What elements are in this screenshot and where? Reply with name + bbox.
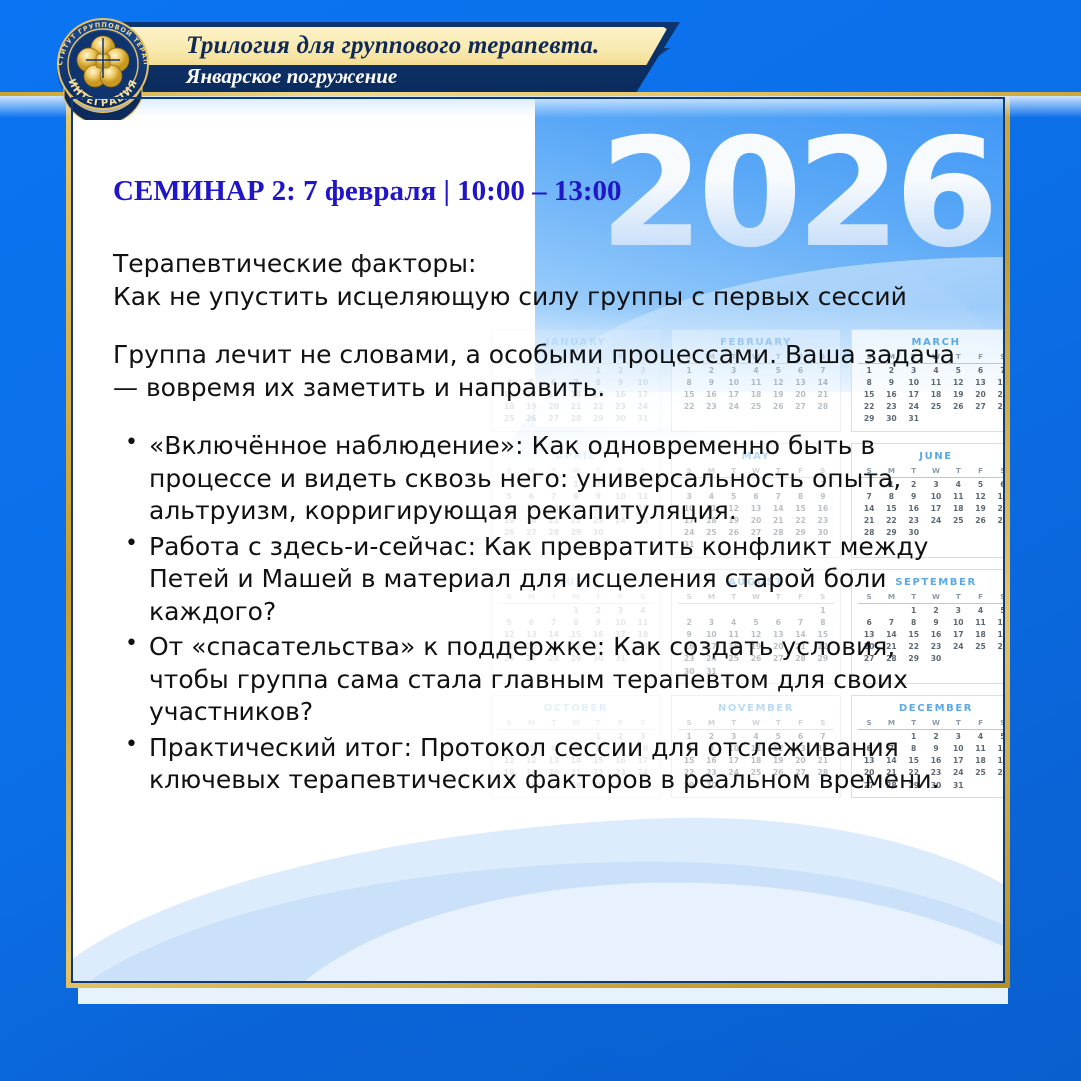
header-subtitle: Январское погружение xyxy=(186,64,397,89)
calendar-day-cell: 27 xyxy=(992,515,1010,527)
calendar-weekday-header: S xyxy=(992,466,1010,478)
bullet-list: «Включённое наблюдение»: Как одновременн… xyxy=(113,430,978,797)
calendar-weekday-header: S xyxy=(992,592,1010,604)
calendar-day-cell: 5 xyxy=(992,730,1010,743)
seminar-heading: СЕМИНАР 2: 7 февраля | 10:00 – 13:00 xyxy=(113,175,978,208)
intro-paragraph: Терапевтические факторы: Как не упустить… xyxy=(113,248,978,313)
calendar-day-cell: 19 xyxy=(992,628,1010,640)
calendar-day-cell: 26 xyxy=(992,767,1010,779)
calendar-day-cell: 12 xyxy=(992,742,1010,754)
calendar-day-cell: 12 xyxy=(992,616,1010,628)
calendar-day-cell: 13 xyxy=(992,490,1010,502)
intro-paragraph: Группа лечит не словами, а особыми проце… xyxy=(113,339,978,404)
calendar-day-cell: 20 xyxy=(992,502,1010,514)
calendar-weekday-header: S xyxy=(992,718,1010,730)
content-card: 2026 JANUARYSMTWTFS123456789101112131415… xyxy=(66,92,1010,988)
calendar-day-cell: 26 xyxy=(992,641,1010,653)
calendar-day-cell xyxy=(992,779,1010,791)
card-content: СЕМИНАР 2: 7 февраля | 10:00 – 13:00 Тер… xyxy=(113,175,978,800)
calendar-day-cell xyxy=(992,413,1010,425)
calendar-weekday-header: S xyxy=(992,352,1010,364)
calendar-day-cell: 14 xyxy=(992,376,1010,388)
header-banner: Трилогия для группового терапевта. Январ… xyxy=(0,0,1081,100)
calendar-day-cell xyxy=(992,653,1010,665)
calendar-day-cell: 19 xyxy=(992,755,1010,767)
calendar-day-cell: 28 xyxy=(992,401,1010,413)
header-cream-ribbon: Трилогия для группового терапевта. xyxy=(128,27,668,65)
calendar-day-cell: 5 xyxy=(992,604,1010,617)
institute-logo: ИНСТИТУТ ГРУППОВОЙ ТЕРАПИИ ИНТЕГРАЦИЯ xyxy=(44,8,162,120)
bullet-item: Работа с здесь-и-сейчас: Как превратить … xyxy=(113,531,978,629)
bullet-item: Практический итог: Протокол сессии для о… xyxy=(113,732,978,797)
intro-paragraphs: Терапевтические факторы: Как не упустить… xyxy=(113,248,978,404)
header-title: Трилогия для группового терапевта. xyxy=(186,32,600,60)
bullet-item: От «спасательства» к поддержке: Как созд… xyxy=(113,631,978,729)
calendar-day-cell: 7 xyxy=(992,364,1010,377)
slide-background: Трилогия для группового терапевта. Январ… xyxy=(0,0,1081,1081)
calendar-day-cell: 6 xyxy=(992,477,1010,490)
calendar-day-cell: 21 xyxy=(992,388,1010,400)
bullet-item: «Включённое наблюдение»: Как одновременн… xyxy=(113,430,978,528)
calendar-day-cell xyxy=(992,527,1010,539)
